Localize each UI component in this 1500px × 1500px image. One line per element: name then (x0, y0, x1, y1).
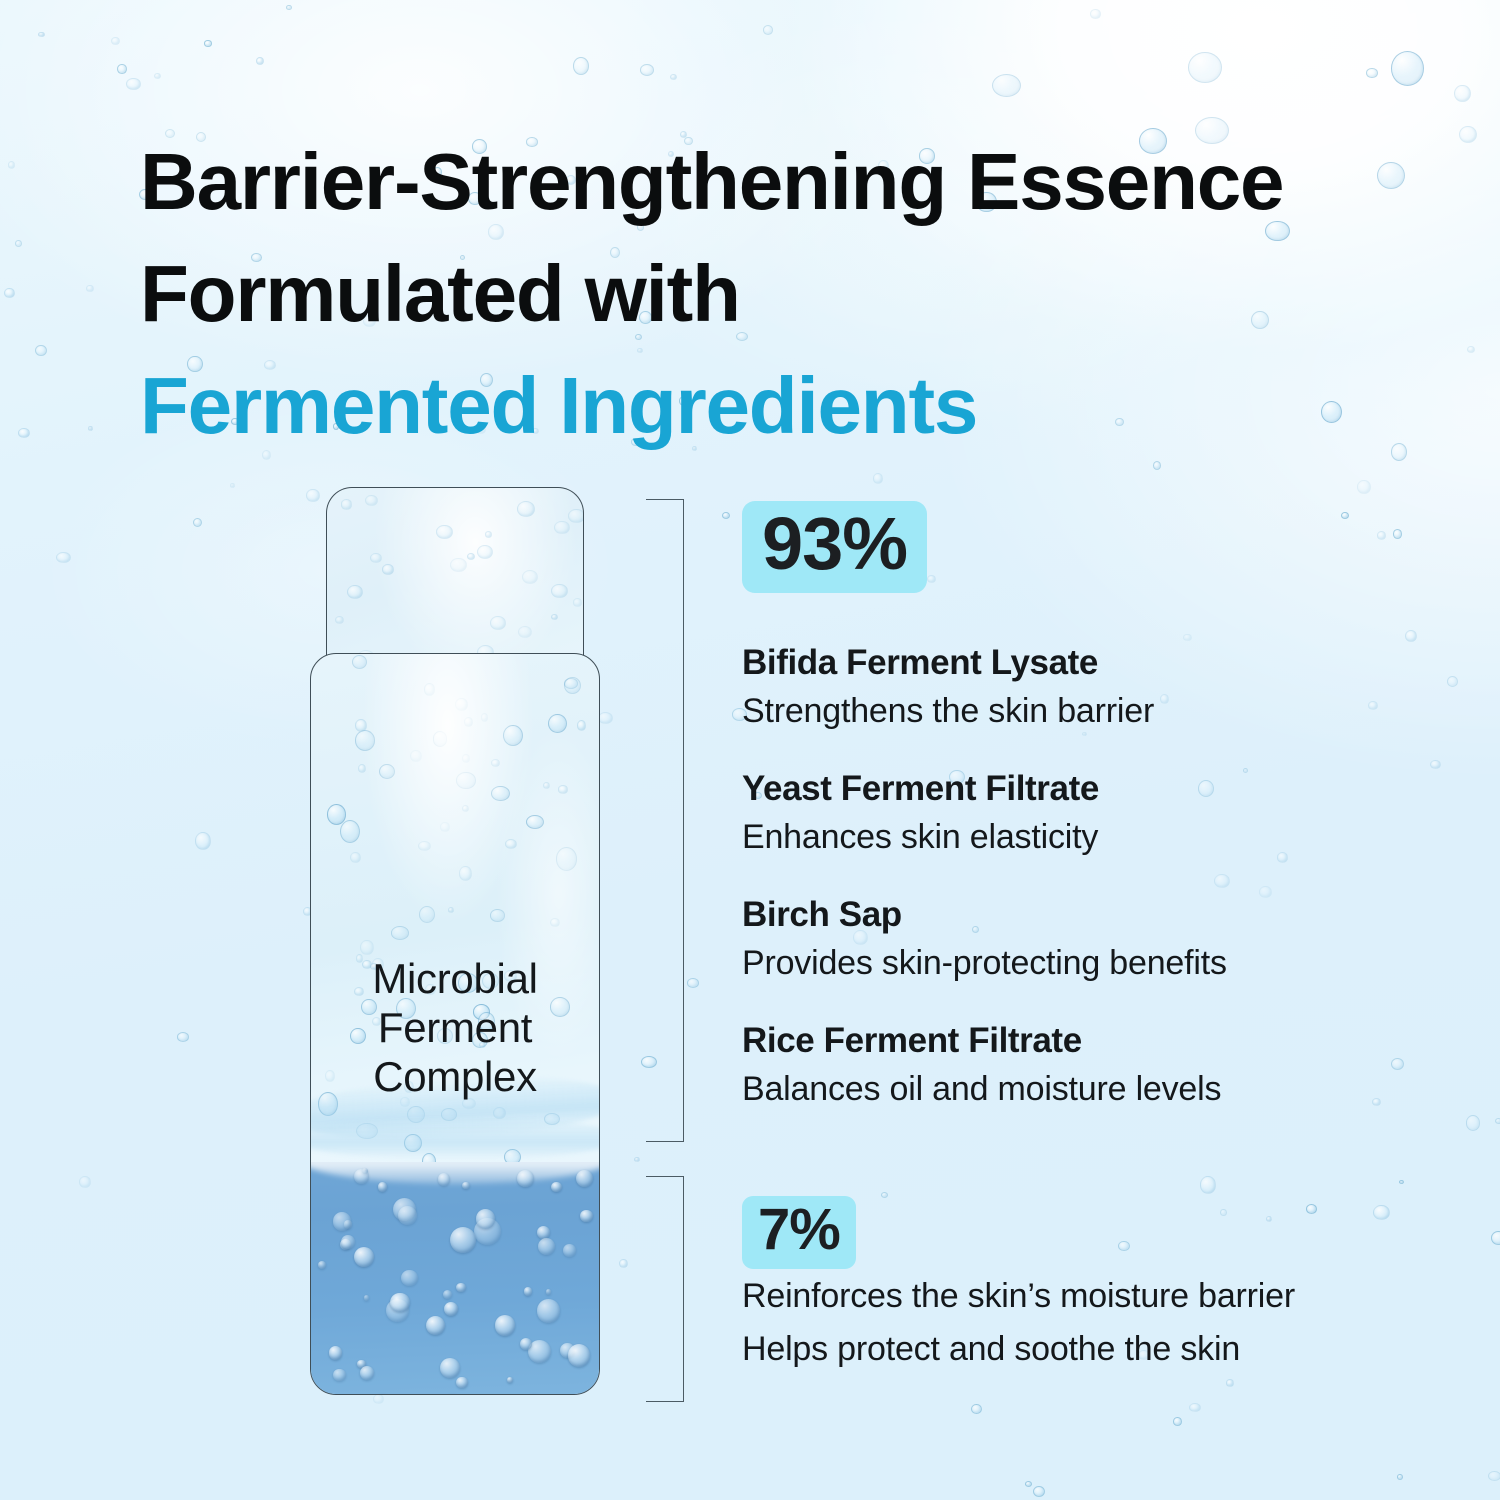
headline-line-2: Formulated with (140, 238, 1420, 350)
bottle-top-label: Microbial Ferment Complex (311, 954, 599, 1101)
bottle-top-label-line-2: Ferment (311, 1003, 599, 1052)
bottle-top-label-line-1: Microbial (311, 954, 599, 1003)
ingredient-item: Yeast Ferment Filtrate Enhances skin ela… (742, 768, 1382, 858)
percent-badge-7: 7% (742, 1196, 856, 1269)
ingredient-list: Bifida Ferment Lysate Strengthens the sk… (742, 642, 1382, 1146)
ingredient-name: Bifida Ferment Lysate (742, 642, 1382, 684)
infographic-canvas: Barrier-Strengthening Essence Formulated… (0, 0, 1500, 1500)
group-93-percent: 93% (742, 501, 927, 593)
benefit-line: Reinforces the skin’s moisture barrier (742, 1270, 1382, 1323)
ingredient-name: Rice Ferment Filtrate (742, 1020, 1382, 1062)
ingredient-item: Birch Sap Provides skin-protecting benef… (742, 894, 1382, 984)
ingredient-name: Birch Sap (742, 894, 1382, 936)
ingredient-description: Strengthens the skin barrier (742, 690, 1382, 732)
bottle-body: Microbial Ferment Complex Biomimetic Flu… (310, 653, 600, 1395)
ingredient-name: Yeast Ferment Filtrate (742, 768, 1382, 810)
ingredient-description: Enhances skin elasticity (742, 816, 1382, 858)
benefit-list: Reinforces the skin’s moisture barrier H… (742, 1270, 1382, 1376)
bracket-7-percent (646, 1176, 684, 1402)
ingredient-description: Balances oil and moisture levels (742, 1068, 1382, 1110)
bracket-93-percent (646, 499, 684, 1142)
ingredient-description: Provides skin-protecting benefits (742, 942, 1382, 984)
blue-liquid-fill (311, 1162, 599, 1394)
percent-badge-93: 93% (742, 501, 927, 593)
product-bottle-graphic: Microbial Ferment Complex Biomimetic Flu… (310, 487, 600, 1395)
bottle-bottom-label-line-1: Biomimetic (311, 1389, 599, 1395)
headline-block: Barrier-Strengthening Essence Formulated… (140, 126, 1420, 462)
ingredient-item: Bifida Ferment Lysate Strengthens the sk… (742, 642, 1382, 732)
headline-line-1: Barrier-Strengthening Essence (140, 126, 1420, 238)
ingredient-item: Rice Ferment Filtrate Balances oil and m… (742, 1020, 1382, 1110)
headline-line-3-accent: Fermented Ingredients (140, 350, 1420, 462)
liquid-wave-lower (310, 1116, 600, 1160)
bottle-top-label-line-3: Complex (311, 1052, 599, 1101)
bottle-neck (326, 487, 584, 669)
bottle-bottom-label: Biomimetic Fluid Tears™ Formula (311, 1389, 599, 1395)
group-7-percent: 7% (742, 1196, 856, 1269)
benefit-line: Helps protect and soothe the skin (742, 1323, 1382, 1376)
